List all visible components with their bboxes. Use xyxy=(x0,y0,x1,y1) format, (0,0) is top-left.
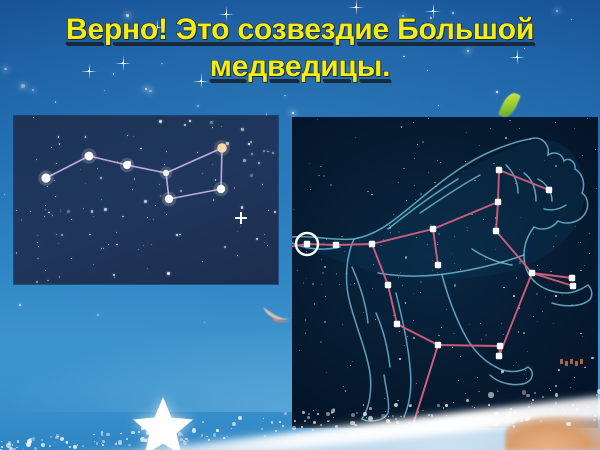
background-star xyxy=(104,90,105,91)
constellation-line xyxy=(169,189,221,199)
background-star xyxy=(427,70,428,71)
background-star xyxy=(126,14,129,17)
bear-outline-stroke xyxy=(352,267,368,323)
bear-outline-stroke xyxy=(362,375,389,421)
twinkle-star xyxy=(355,6,357,8)
background-star xyxy=(149,90,152,93)
constellation-star-marker xyxy=(385,282,391,288)
constellation-star-marker xyxy=(369,241,375,247)
background-star xyxy=(350,69,352,71)
twinkle-star xyxy=(156,26,158,28)
constellation-star-marker xyxy=(435,342,441,348)
constellation-star-marker xyxy=(493,228,499,234)
ursa-major-engraving[interactable] xyxy=(292,117,598,428)
bear-outline-stroke xyxy=(396,293,411,417)
background-star xyxy=(467,50,469,52)
big-dipper-diagram xyxy=(14,116,278,284)
bear-outline-stroke xyxy=(534,281,592,306)
bird-silhouette-icon xyxy=(262,303,294,325)
constellation-line xyxy=(336,244,372,245)
twinkle-star xyxy=(200,80,202,82)
twinkle-star xyxy=(88,70,90,72)
constellation-line xyxy=(388,285,397,324)
big-dipper-chart[interactable] xyxy=(14,116,278,284)
background-star xyxy=(161,63,162,64)
constellation-star-marker xyxy=(304,241,310,247)
dipper-star xyxy=(217,185,225,193)
background-star xyxy=(19,304,20,305)
background-star xyxy=(292,112,295,115)
background-star xyxy=(438,105,439,106)
background-star xyxy=(55,101,57,103)
dipper-star xyxy=(163,170,169,176)
background-star xyxy=(21,84,25,88)
background-star xyxy=(430,17,432,19)
engraving-label-marks xyxy=(560,359,583,366)
constellation-star-marker xyxy=(430,226,436,232)
bear-outline-stroke xyxy=(442,275,496,367)
background-star xyxy=(32,89,34,91)
blurred-hand xyxy=(505,416,600,450)
background-star xyxy=(284,95,286,97)
twinkle-star xyxy=(225,13,227,15)
bear-body-tint xyxy=(292,140,584,280)
dipper-star xyxy=(41,173,50,182)
dipper-star xyxy=(217,143,227,153)
constellation-star-marker xyxy=(529,270,535,276)
dipper-star xyxy=(165,195,173,203)
constellation-line xyxy=(499,273,532,356)
background-star xyxy=(367,76,368,77)
background-star xyxy=(403,56,405,58)
constellation-line xyxy=(307,244,336,245)
constellation-star-marker xyxy=(333,242,339,248)
background-star xyxy=(145,88,147,90)
twinkle-star xyxy=(516,56,518,58)
background-star xyxy=(402,15,404,17)
background-star xyxy=(97,314,99,316)
bear-outline-stroke xyxy=(490,367,532,385)
constellation-line xyxy=(166,148,222,173)
background-star xyxy=(4,194,6,196)
bear-constellation-diagram xyxy=(292,117,598,428)
constellation-line xyxy=(397,324,438,345)
constellation-star-marker xyxy=(569,275,575,281)
background-star xyxy=(113,73,115,75)
background-star xyxy=(524,48,525,49)
background-star xyxy=(556,10,558,12)
dipper-star xyxy=(123,161,131,169)
presentation-slide: Верно! Это созвездие Большой медведицы. xyxy=(0,0,600,450)
constellation-star-marker xyxy=(570,283,576,289)
background-star xyxy=(363,33,365,35)
background-star xyxy=(571,19,572,20)
constellation-line xyxy=(412,345,438,428)
constellation-star-marker xyxy=(546,187,552,193)
constellation-star-marker xyxy=(497,343,503,349)
bear-outline-stroke xyxy=(376,313,390,367)
twinkle-star xyxy=(122,62,124,64)
background-star xyxy=(197,105,199,107)
background-star xyxy=(204,322,205,323)
constellation-star-marker xyxy=(496,353,502,359)
constellation-star-marker xyxy=(496,167,502,173)
dipper-star xyxy=(85,152,94,161)
background-star xyxy=(496,91,498,93)
constellation-star-marker xyxy=(394,321,400,327)
constellation-line xyxy=(438,345,500,346)
constellation-star-marker xyxy=(495,199,501,205)
background-star xyxy=(452,12,454,14)
constellation-line xyxy=(498,170,499,202)
background-star xyxy=(4,68,7,71)
twinkle-star xyxy=(432,10,434,12)
constellation-star-marker xyxy=(435,262,441,268)
white-star-decoration xyxy=(132,396,194,450)
